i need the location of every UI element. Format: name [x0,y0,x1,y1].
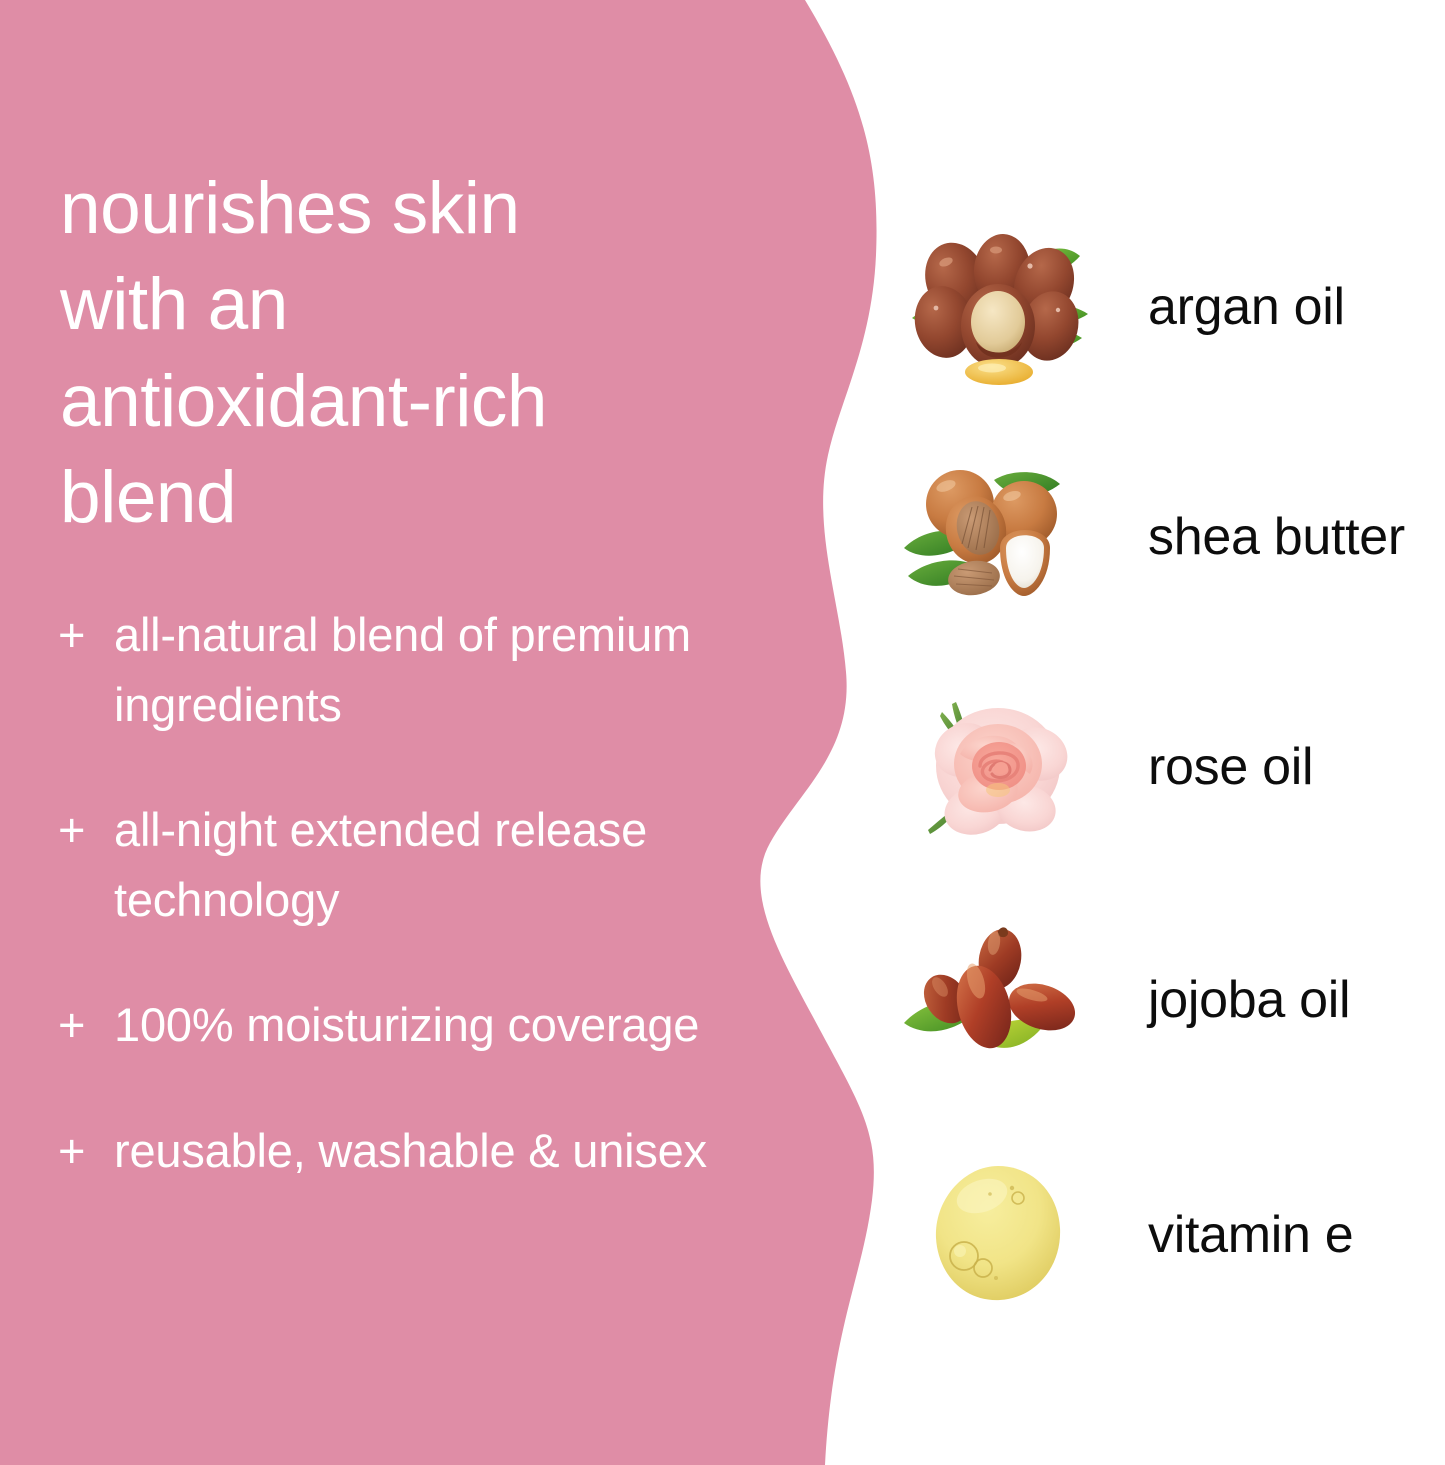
ingredient-infographic: nourishes skin with an antioxidant-rich … [0,0,1445,1465]
ingredient-label: shea butter [1148,507,1445,567]
jojoba-seeds-icon [898,915,1098,1085]
plus-icon: + [58,990,114,1060]
left-copy-column: nourishes skin with an antioxidant-rich … [0,0,740,1465]
rose-flower-icon [898,682,1098,852]
argan-nuts-icon [898,222,1098,392]
ingredient-label: rose oil [1148,737,1445,797]
ingredient-row-rose-oil: rose oil [880,672,1445,862]
plus-icon: + [58,1116,114,1186]
plus-icon: + [58,600,114,670]
ingredient-row-shea-butter: shea butter [880,442,1445,632]
page-headline: nourishes skin with an antioxidant-rich … [60,161,740,546]
benefit-text: all-natural blend of premium ingredients [114,600,718,739]
benefit-text: 100% moisturizing coverage [114,990,718,1060]
benefit-item: + 100% moisturizing coverage [58,990,718,1060]
benefit-text: reusable, washable & unisex [114,1116,718,1186]
ingredient-label: jojoba oil [1148,970,1445,1030]
ingredient-row-argan-oil: argan oil [880,212,1445,402]
benefit-item: + all-night extended release technology [58,795,718,934]
benefit-text: all-night extended release technology [114,795,718,934]
ingredient-list: argan oil [880,0,1445,1465]
ingredient-row-vitamin-e: vitamin e [880,1140,1445,1330]
plus-icon: + [58,795,114,865]
oil-drop-icon [898,1150,1098,1320]
ingredient-label: vitamin e [1148,1205,1445,1265]
benefit-item: + all-natural blend of premium ingredien… [58,600,718,739]
ingredient-row-jojoba-oil: jojoba oil [880,905,1445,1095]
ingredient-label: argan oil [1148,277,1445,337]
shea-nuts-icon [898,452,1098,622]
benefit-item: + reusable, washable & unisex [58,1116,718,1186]
benefit-list: + all-natural blend of premium ingredien… [58,600,718,1185]
